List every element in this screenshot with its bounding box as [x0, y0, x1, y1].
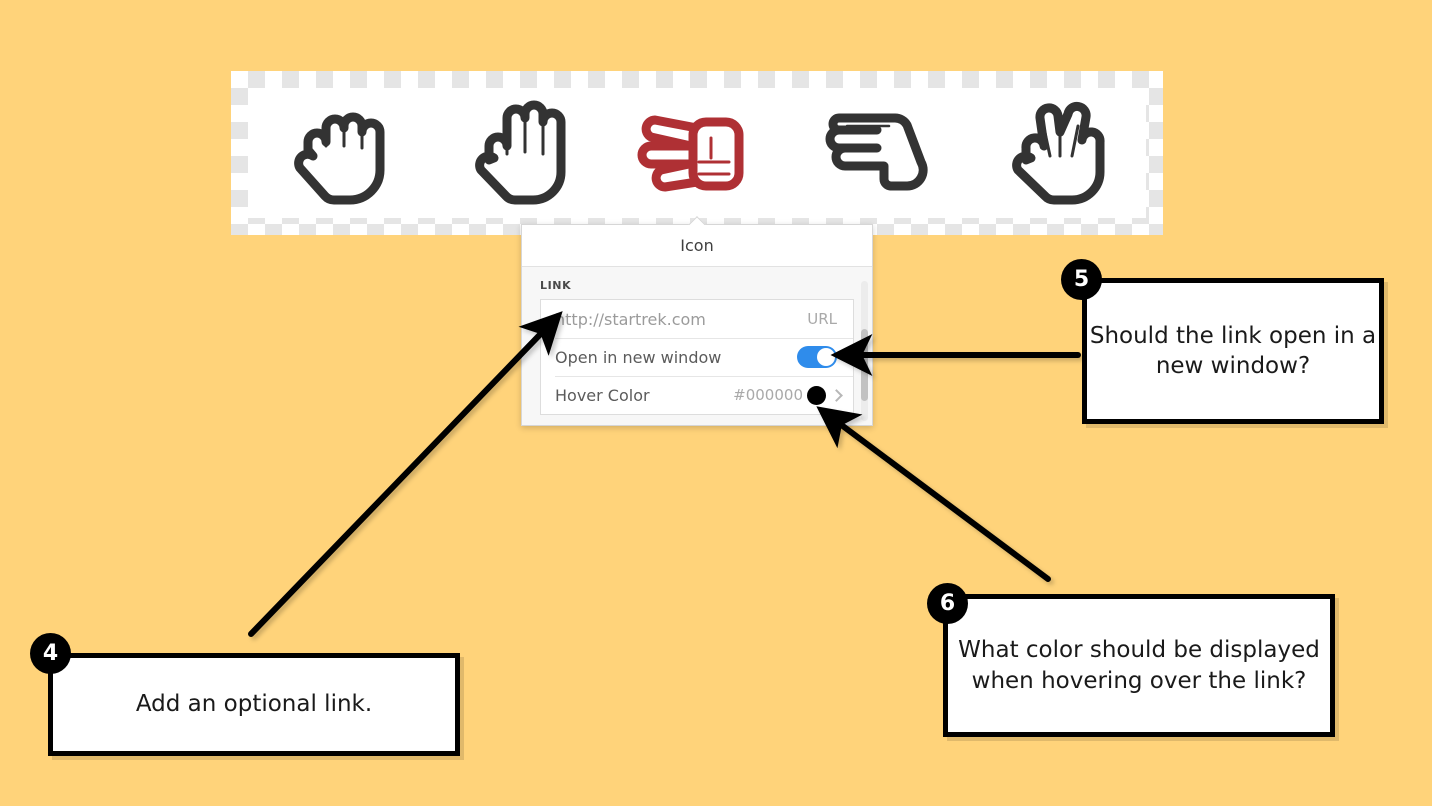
hover-color-swatch[interactable]: [807, 386, 826, 405]
url-input[interactable]: http://startrek.com: [555, 310, 807, 329]
callout-badge-6: 6: [927, 583, 968, 624]
toggle-knob: [817, 348, 835, 366]
scrollbar-thumb[interactable]: [861, 329, 868, 401]
icon-strip: [248, 88, 1146, 218]
callout-text-5: Should the link open in a new window?: [1087, 321, 1379, 382]
hover-color-value: #000000: [733, 386, 803, 404]
open-in-new-window-toggle[interactable]: [797, 346, 837, 368]
popup-title: Icon: [522, 225, 872, 267]
open-in-new-window-row[interactable]: Open in new window: [541, 338, 853, 376]
annotated-screenshot: Icon LINK http://startrek.com URL Open i…: [0, 0, 1432, 806]
hand-spock-icon[interactable]: [971, 88, 1141, 218]
callout-box-5: Should the link open in a new window?: [1082, 278, 1384, 424]
callout-badge-5: 5: [1061, 259, 1102, 300]
link-section-label: LINK: [540, 279, 854, 292]
url-row[interactable]: http://startrek.com URL: [541, 300, 853, 338]
open-in-new-window-label: Open in new window: [555, 348, 797, 367]
popup-body: LINK http://startrek.com URL Open in new…: [522, 267, 872, 415]
hand-pointing-left-icon[interactable]: [612, 88, 782, 218]
link-settings-rows: http://startrek.com URL Open in new wind…: [540, 299, 854, 415]
callout-box-4: Add an optional link.: [48, 653, 460, 756]
icon-strip-transparency-backdrop: [231, 71, 1163, 235]
hover-color-row[interactable]: Hover Color #000000: [541, 376, 853, 414]
popup-caret-icon: [688, 216, 706, 225]
hand-pointing-right-icon[interactable]: [792, 88, 962, 218]
callout-box-6: What color should be displayed when hove…: [943, 594, 1335, 737]
callout-badge-4: 4: [30, 633, 71, 674]
callout-text-4: Add an optional link.: [136, 689, 372, 719]
icon-settings-popup: Icon LINK http://startrek.com URL Open i…: [521, 224, 873, 426]
hand-grab-icon[interactable]: [253, 88, 423, 218]
arrow-6: [824, 412, 1048, 579]
chevron-right-icon[interactable]: [830, 389, 843, 402]
callout-text-6: What color should be displayed when hove…: [948, 635, 1330, 696]
hand-open-palm-icon[interactable]: [432, 88, 602, 218]
url-field-label: URL: [807, 310, 851, 328]
popup-scrollbar[interactable]: [861, 281, 868, 421]
arrow-4: [251, 318, 556, 634]
hover-color-label: Hover Color: [555, 386, 733, 405]
